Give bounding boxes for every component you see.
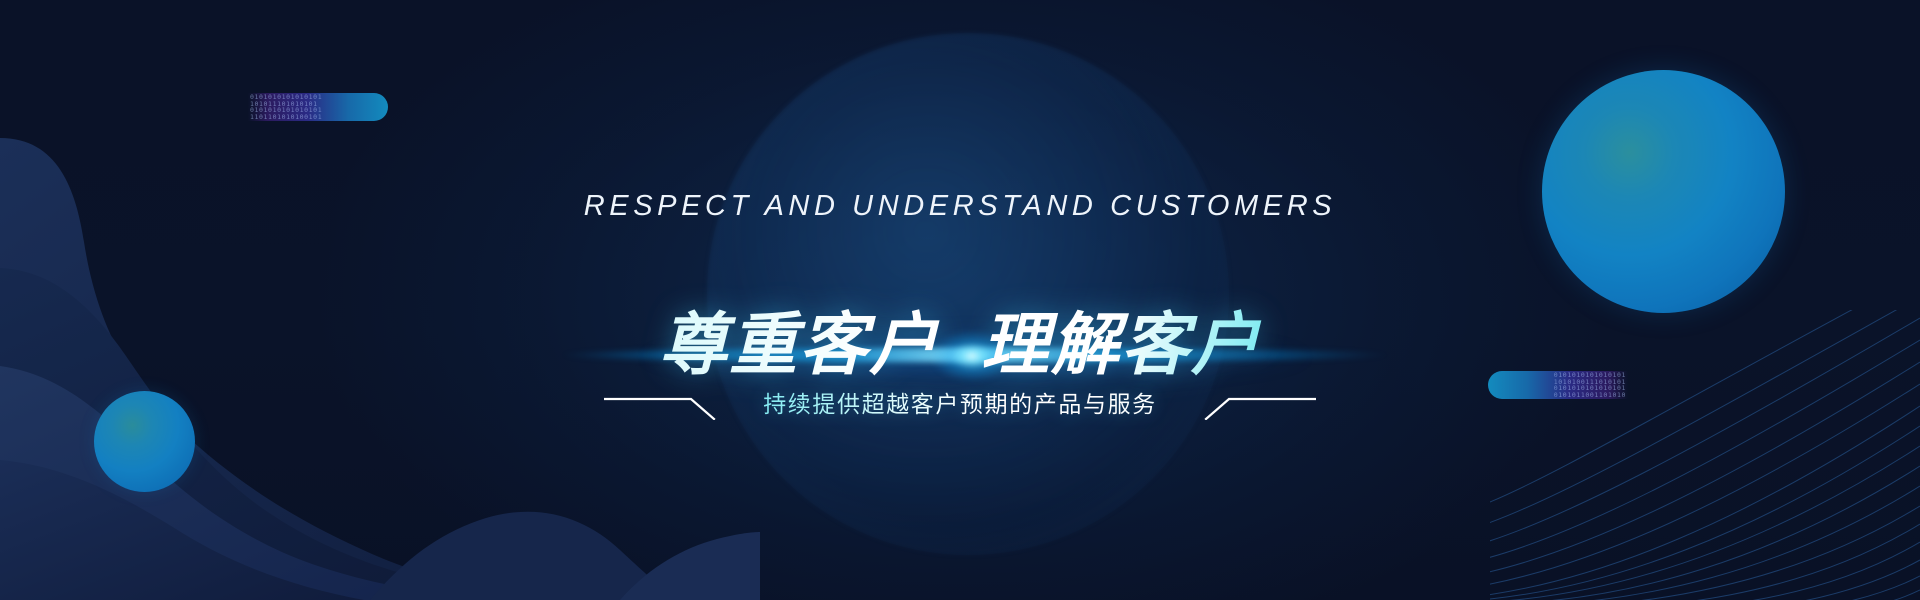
eyebrow-text: RESPECT AND UNDERSTAND CUSTOMERS bbox=[0, 190, 1920, 223]
left-angle-rule-icon bbox=[604, 384, 729, 420]
hero-banner: 0101010101010101 101011101010101 0101010… bbox=[0, 0, 1920, 600]
page-title: 尊重客户 理解客户 bbox=[0, 289, 1920, 388]
subtitle-text: 持续提供超越客户预期的产品与服务 bbox=[729, 385, 1191, 419]
subtitle-row: 持续提供超越客户预期的产品与服务 bbox=[0, 384, 1920, 420]
banner-content: RESPECT AND UNDERSTAND CUSTOMERS 尊重客户 理解… bbox=[0, 0, 1920, 600]
right-angle-rule-icon bbox=[1191, 384, 1316, 420]
